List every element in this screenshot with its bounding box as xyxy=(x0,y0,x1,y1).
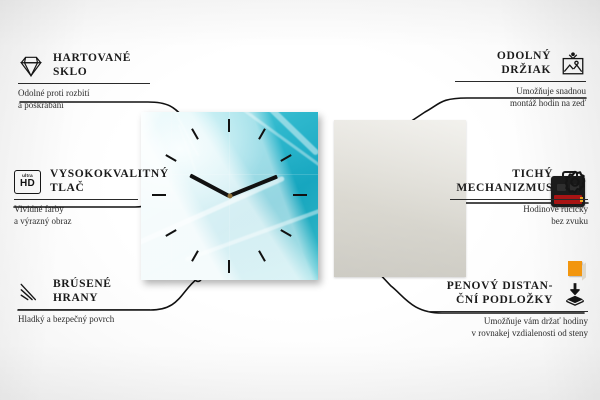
feature-title-line2: ČNÍ PODLOŽKY xyxy=(447,294,553,308)
feature-title-line1: TICHÝ xyxy=(456,168,553,182)
feature-desc-line1: Umožňuje snadnou xyxy=(455,86,586,98)
feature-odolny-drziak: ODOLNÝ DRŽIAK Umožňuje snadnou montáž ho… xyxy=(455,50,586,109)
diamond-icon xyxy=(18,53,44,79)
hour-tick xyxy=(228,119,230,132)
clock-center-pin xyxy=(227,194,232,199)
feature-title-line2: MECHANIZMUS xyxy=(456,182,553,196)
feature-desc-line2: v rovnakej vzdialenosti od steny xyxy=(428,328,588,340)
feature-vysokokvalitny-tlac: ultra HD VYSOKOKVALITNÝ TLAČ Vividné far… xyxy=(14,168,138,227)
feature-desc-line2: a výrazný obraz xyxy=(14,216,138,228)
feature-desc-line2: a poškrábání xyxy=(18,100,150,112)
feature-title-line2: DRŽIAK xyxy=(497,64,551,78)
feature-divider xyxy=(455,81,586,82)
ground-edges-icon xyxy=(18,279,44,305)
feature-desc-line1: Hladký a bezpečný povrch xyxy=(18,314,150,326)
picture-frame-hanger-icon xyxy=(560,51,586,77)
feature-divider xyxy=(18,83,150,84)
ultra-hd-icon: ultra HD xyxy=(14,170,41,194)
feature-desc-line1: Umožňuje vám držať hodiny xyxy=(428,316,588,328)
feature-divider xyxy=(14,199,138,200)
feature-divider xyxy=(450,199,588,200)
hour-tick xyxy=(293,194,307,196)
feature-tichy-mechanizmus: TICHÝ MECHANIZMUS Hodinové ručičky bez z… xyxy=(450,168,588,227)
wall-background xyxy=(334,120,466,277)
gear-icon xyxy=(562,169,588,195)
feature-title-line1: ODOLNÝ xyxy=(497,50,551,64)
feature-title-line1: BRÚSENÉ xyxy=(53,278,112,292)
feature-title-line2: TLAČ xyxy=(50,182,169,196)
feature-desc-line2: bez zvuku xyxy=(450,216,588,228)
feature-title-line1: VYSOKOKVALITNÝ xyxy=(50,168,169,182)
product-photo xyxy=(131,105,466,283)
ultra-hd-icon-main: HD xyxy=(20,179,35,189)
foam-spacer-pad xyxy=(568,261,582,276)
feature-brusene-hrany: BRÚSENÉ HRANY Hladký a bezpečný povrch xyxy=(18,278,150,326)
feature-title-line1: HARTOVANÉ xyxy=(53,52,131,66)
feature-desc-line2: montáž hodin na zeď xyxy=(455,98,586,110)
feature-title-line2: SKLO xyxy=(53,66,131,80)
glass-clock-face xyxy=(141,112,318,280)
feature-divider xyxy=(428,311,588,312)
feature-hartovane-sklo: HARTOVANÉ SKLO Odolné proti rozbití a po… xyxy=(18,52,150,111)
hour-tick xyxy=(228,260,230,273)
feature-penove-distancni-podlozky: PENOVÝ DISTAN- ČNÍ PODLOŽKY Umožňuje vám… xyxy=(428,280,588,339)
feature-desc-line1: Odolné proti rozbití xyxy=(18,88,150,100)
feature-title-line2: HRANY xyxy=(53,292,112,306)
feature-desc-line1: Vividné farby xyxy=(14,204,138,216)
infographic-canvas: HARTOVANÉ SKLO Odolné proti rozbití a po… xyxy=(0,0,600,400)
feature-divider xyxy=(18,309,150,310)
feature-title-line1: PENOVÝ DISTAN- xyxy=(447,280,553,294)
feature-desc-line1: Hodinové ručičky xyxy=(450,204,588,216)
foam-spacer-icon xyxy=(562,281,588,307)
